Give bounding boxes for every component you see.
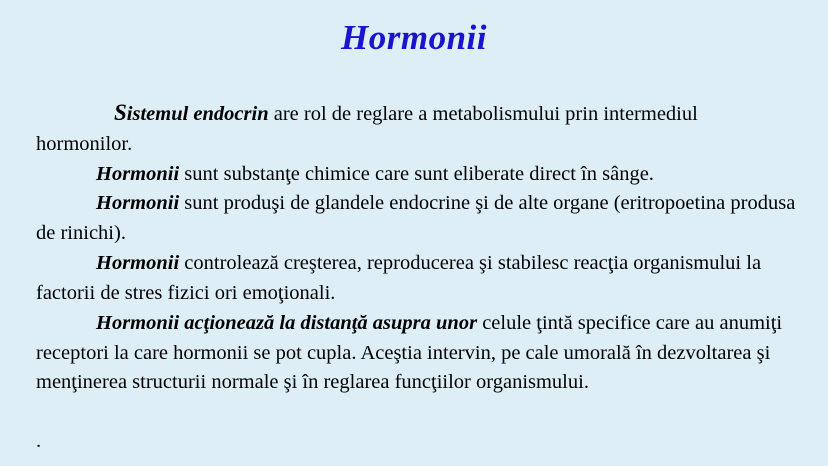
paragraph-1: Sistemul endocrin are rol de reglare a m… <box>36 96 796 160</box>
trailing-mark: . <box>36 429 41 454</box>
paragraph-3-lead: Hormonii <box>96 192 179 214</box>
slide-body: Sistemul endocrin are rol de reglare a m… <box>36 96 796 398</box>
paragraph-5: Hormonii acţionează la distanţă asupra u… <box>36 309 796 398</box>
paragraph-1-lead: istemul endocrin <box>127 103 269 125</box>
paragraph-3: Hormonii sunt produşi de glandele endocr… <box>36 189 796 249</box>
paragraph-2: Hormonii sunt substanţe chimice care sun… <box>36 160 796 190</box>
paragraph-2-lead: Hormonii <box>96 163 179 185</box>
page-title: Hormonii <box>0 0 828 58</box>
paragraph-2-text: sunt substanţe chimice care sunt elibera… <box>179 163 654 185</box>
paragraph-4: Hormonii controlează creşterea, reproduc… <box>36 249 796 309</box>
paragraph-5-lead: Hormonii acţionează la distanţă asupra u… <box>96 312 477 334</box>
paragraph-4-lead: Hormonii <box>96 252 179 274</box>
slide-canvas: Hormonii Sistemul endocrin are rol de re… <box>0 0 828 466</box>
paragraph-1-lead-capital: S <box>114 100 127 125</box>
